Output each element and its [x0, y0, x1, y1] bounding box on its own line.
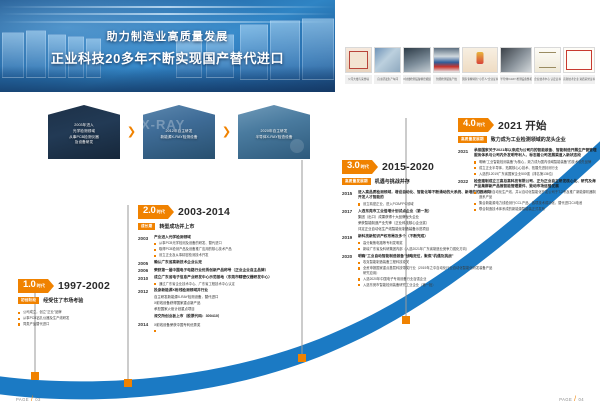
milestone-dot-1 [31, 372, 39, 380]
bullet-item: 通过广东省企业技术中心、广东省工程技术中心认定 [154, 282, 288, 287]
era-label: 时代 [37, 283, 45, 289]
year-row: 2010 成立广东省电子信息产业研发中心示范基地（东莞市精密仪器研发中心） 通过… [138, 275, 288, 286]
bullet-item: 新增多条自动化生产线，并以自动化智能化开发公司于T-2专及推广新能源机器制造系产… [474, 190, 598, 200]
year-content: 承接国家关于2021年以来成为公司内的智能装备、智能制造开展生产营管理服务体系与… [474, 148, 598, 177]
year-label: 2010 [138, 275, 154, 286]
year-content: 明确"工业自动智能制造装备"战略定位，聚焦"机遇及挑战" 攻克智能制造装备工程科… [358, 254, 494, 288]
era-subtitle: 高质量发展期 致力成为工业检测领域的龙头企业 [458, 136, 598, 143]
era-header: 4.0 时代 2021 开始 [458, 118, 598, 132]
era-header: 2.0 时代 2003-2014 [138, 205, 288, 219]
year-heading: 荣获第一届中国电子电路行业优秀创新产品称号（正业企业自主品牌） [154, 268, 288, 273]
year-heading: 承接国家关于2021年以来成为公司内的智能装备、智能制造开展生产营管理服务体系与… [474, 148, 598, 159]
bullet-item: 全资申报国家重点基层科技带奖行业（2019年之中自动化行业自动化智能化研发装备产… [358, 266, 494, 276]
plain-item: 荣获智能制造产业先锋（正业科技核心企业奖） [358, 221, 494, 226]
era-number: 1.0 [23, 279, 36, 290]
year-label [138, 314, 154, 319]
year-label: 2003 [138, 235, 154, 258]
era-label: 时代 [157, 209, 165, 215]
bullet-item: 集合新能源电力线检测行CCL产品、各项技术成功化、替代进口C4电池 [474, 201, 598, 206]
year-content: 检查建制成立三高总高科技有限公司、正为正业自主研发核心化、研究及海产品集群新产品… [474, 179, 598, 212]
era-body: 2003 产业进入光学检测领域 从事PCB光学检测及设备的研发、替代进口 取得P… [138, 235, 288, 329]
page-number-right: PAGE / 04 [559, 396, 584, 403]
year-row: 2022 检查建制成立三高总高科技有限公司、正为正业自主研发核心化、研究及海产品… [458, 179, 598, 212]
era-panel-4: 4.0 时代 2021 开始 高质量发展期 致力成为工业检测领域的龙头企业 20… [458, 118, 598, 214]
year-content: 深交所创业板上市（股票代码：300410） [154, 314, 288, 319]
plain-item: 集团（出口）成果获得十大品牌龙头企业 [358, 215, 494, 220]
milestone-dot-4 [402, 316, 410, 324]
milestone-dot-2 [124, 379, 132, 387]
bullet-item: 新增广东省及科研集团内部（入选2021年广东省制造业竞争力强化方向） [358, 247, 494, 252]
era-tag: 3.0 时代 [342, 160, 372, 174]
era-stage-text: 转型成功并上市 [159, 223, 194, 230]
era-stage-text: 机遇与挑战并存 [375, 178, 410, 185]
bullet-item: 从事PCB钻孔仪器及生产线研发 [18, 316, 130, 321]
era-stage-tag: 初创阶段 [18, 297, 39, 304]
year-row: 2020 明确"工业自动智能制造装备"战略定位，聚焦"机遇及挑战" 攻克智能制造… [342, 254, 494, 288]
bullet-item: 成立正业半导体，拓展核心心技术、拓展先进封测行业 [474, 166, 598, 171]
bullet-item: 从事PCB光学检测及设备的研发、替代进口 [154, 241, 288, 246]
era-body: 公司成立，创立"正业"品牌 从事PCB钻孔仪器及生产线研发 同类产品替代进口 [18, 309, 130, 327]
banner-title-group: 助力制造业高质量发展 正业科技20多年不断实现国产替代进口 [0, 28, 335, 67]
year-row: 2005 确认广东省高新技术企业认定 [138, 260, 288, 266]
bullet-item: 明确"工业智能检测装备"为核心，致力成为国内领域智能装备"的技术领先品牌 [474, 160, 598, 165]
year-heading: 成立广东省电子信息产业研发中心示范基地（东莞市精密仪器研发中心） [154, 275, 288, 280]
bullet-item: 入选的12019广东省国家企业500强（排名第136位） [474, 172, 598, 177]
era-range: 2021 开始 [498, 118, 547, 133]
year-content: 投身新能源X射线检测领域并行业 自主研发新能源X-RAY检测设备，替代进口 X射… [154, 288, 288, 312]
era-tag: 1.0 时代 [18, 279, 48, 293]
era-number: 2.0 [143, 205, 156, 216]
bullet-item: 同类产品替代进口 [18, 322, 130, 327]
page-slash: / [31, 396, 33, 403]
year-row: 2003 产业进入光学检测领域 从事PCB光学检测及设备的研发、替代进口 取得P… [138, 235, 288, 258]
year-row: 2019 新科技新知识产权布局及多个（不断完成） 高分聚焦电路等专利发明奖 新增… [342, 234, 494, 251]
banner-title-line2: 正业科技20多年不断实现国产替代进口 [0, 48, 335, 67]
banner-title-line1: 助力制造业高质量发展 [0, 28, 335, 44]
era-range: 2003-2014 [178, 206, 230, 218]
year-row: 公司成立，创立"正业"品牌 从事PCB钻孔仪器及生产线研发 同类产品替代进口 [18, 309, 130, 327]
year-label: 2012 [138, 288, 154, 312]
year-label: 2014 [138, 322, 154, 329]
plain-item: 自主研发新能源X-RAY检测设备，替代进口 [154, 295, 288, 300]
year-content: 新科技新知识产权布局及多个（不断完成） 高分聚焦电路等专利发明奖 新增广东省及科… [358, 234, 494, 251]
era-panel-2: 2.0 时代 2003-2014 成长期 转型成功并上市 2003 产业进入光学… [138, 205, 288, 331]
era-range: 1997-2002 [58, 280, 110, 292]
era-stage-tag: 高质量发展期 [458, 136, 487, 143]
bullet-item: 入选2020年中国电子专用设备行业百强企业 [358, 277, 494, 282]
page-value: 03 [35, 397, 40, 402]
era-subtitle: 成长期 转型成功并上市 [138, 223, 288, 230]
bullet-item: 联合制造技术体系成的新能源智能装正式发布 [474, 207, 598, 212]
year-content: 公司成立，创立"正业"品牌 从事PCB钻孔仪器及生产线研发 同类产品替代进口 [18, 309, 130, 327]
plain-item: 评定正业自动化生产线智能化制造装备示范项目 [358, 227, 494, 232]
plain-item: 承担国家火炬计划重点项目 [154, 307, 288, 312]
era-body: 2021 承接国家关于2021年以来成为公司内的智能装备、智能制造开展生产营管理… [458, 148, 598, 212]
bullet-item: 设立正业及从事精密检测技术开发 [154, 253, 288, 258]
plain-item: X射线设备荣获中国专利优秀奖 [154, 323, 288, 328]
year-content: 荣获第一届中国电子电路行业优秀创新产品称号（正业企业自主品牌） [154, 268, 288, 274]
year-label: 2019 [342, 234, 358, 251]
bullet-item: 攻克智能制造装备工程科技攻关 [358, 260, 494, 265]
era-stage-tag: 成长期 [138, 223, 155, 230]
plain-item: X射线设备获得国家重点新产品 [154, 301, 288, 306]
era-tag: 4.0 时代 [458, 118, 488, 132]
year-heading: 深交所创业板上市（股票代码：300410） [154, 314, 288, 319]
era-header: 1.0 时代 1997-2002 [18, 279, 130, 293]
year-heading: 新科技新知识产权布局及多个（不断完成） [358, 234, 494, 239]
year-label: 2015 [342, 190, 358, 207]
year-row: 2021 承接国家关于2021年以来成为公司内的智能装备、智能制造开展生产营管理… [458, 148, 598, 177]
era-range: 2015-2020 [382, 161, 434, 173]
year-row: 2006 荣获第一届中国电子电路行业优秀创新产品称号（正业企业自主品牌） [138, 268, 288, 274]
year-content: 产业进入光学检测领域 从事PCB光学检测及设备的研发、替代进口 取得PCB检测产… [154, 235, 288, 258]
year-heading: 明确"工业自动智能制造装备"战略定位，聚焦"机遇及挑战" [358, 254, 494, 259]
year-row: 2012 投身新能源X射线检测领域并行业 自主研发新能源X-RAY检测设备，替代… [138, 288, 288, 312]
page-label: PAGE [559, 397, 572, 402]
bullet-item: 高分聚焦电路等专利发明奖 [358, 241, 494, 246]
year-content: X射线设备荣获中国专利优秀奖 [154, 322, 288, 329]
page-value: 04 [579, 397, 584, 402]
year-label: 2006 [138, 268, 154, 274]
era-stage-text: 经受住了市场考验 [43, 297, 83, 304]
bullet-item: 公司成立，创立"正业"品牌 [18, 310, 130, 315]
era-stage-tag: 高质量发展期 [342, 178, 371, 185]
year-label: 2017 [342, 209, 358, 233]
milestone-dot-3 [298, 354, 306, 362]
year-label: 2005 [138, 260, 154, 266]
year-row: 深交所创业板上市（股票代码：300410） [138, 314, 288, 319]
era-number: 3.0 [347, 160, 360, 171]
era-tag: 2.0 时代 [138, 205, 168, 219]
year-label: 2022 [458, 179, 474, 212]
era-stage-text: 致力成为工业检测领域的龙头企业 [491, 136, 566, 143]
bullet-item: 入选东莞市智能检测装备研究工业企业（第一批） [358, 283, 494, 288]
era-label: 时代 [361, 164, 369, 170]
bullet-item: 取得PCB检测产品及设备推广应用的核心技术产品 [154, 247, 288, 252]
year-content: 成立广东省电子信息产业研发中心示范基地（东莞市精密仪器研发中心） 通过广东省企业… [154, 275, 288, 286]
page-slash: / [574, 396, 576, 403]
year-label: 2020 [342, 254, 358, 288]
year-content: 确认广东省高新技术企业认定 [154, 260, 288, 266]
era-number: 4.0 [463, 118, 476, 129]
era-label: 时代 [477, 122, 485, 128]
page-number-left: PAGE / 03 [16, 396, 41, 403]
year-row: 2014 X射线设备荣获中国专利优秀奖 [138, 322, 288, 329]
page-label: PAGE [16, 397, 29, 402]
era-panel-1: 1.0 时代 1997-2002 初创阶段 经受住了市场考验 公司成立，创立"正… [18, 279, 130, 329]
era-subtitle: 初创阶段 经受住了市场考验 [18, 297, 130, 304]
year-label: 2021 [458, 148, 474, 177]
year-heading: 投身新能源X射线检测领域并行业 [154, 288, 288, 293]
year-heading: 确认广东省高新技术企业认定 [154, 260, 288, 265]
year-heading: 检查建制成立三高总高科技有限公司、正为正业自主研发核心化、研究及海产品集群新产品… [474, 179, 598, 190]
year-heading: 产业进入光学检测领域 [154, 235, 288, 240]
